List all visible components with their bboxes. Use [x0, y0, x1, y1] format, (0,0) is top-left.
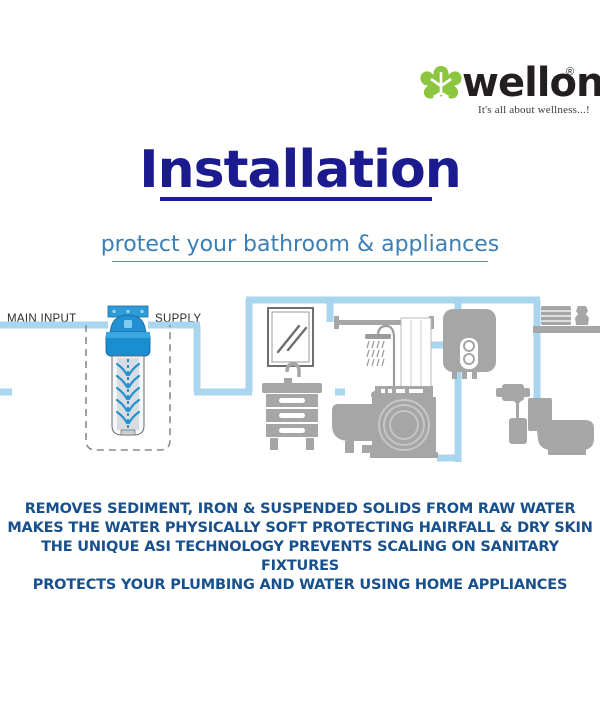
title-underline [160, 197, 432, 201]
water-spray-icon [367, 341, 384, 366]
page-title: Installation [0, 140, 600, 200]
water-heater [443, 309, 496, 379]
washing-machine [370, 386, 438, 458]
claim-line-4: PROTECTS YOUR PLUMBING AND WATER USING H… [0, 576, 600, 595]
water-filter-housing [106, 306, 150, 435]
claim-line-1: REMOVES SEDIMENT, IRON & SUSPENDED SOLID… [0, 500, 600, 519]
installation-diagram [0, 280, 600, 465]
brand-logo: wellon ® It's all about wellness...! [418, 62, 588, 124]
claim-line-3: THE UNIQUE ASI TECHNOLOGY PREVENTS SCALI… [0, 538, 600, 576]
green-clover-leaf-icon [418, 64, 464, 110]
page-subtitle: protect your bathroom & appliances [0, 232, 600, 257]
installation-poster: wellon ® It's all about wellness...! Ins… [0, 0, 600, 708]
claim-line-2: MAKES THE WATER PHYSICALLY SOFT PROTECTI… [0, 519, 600, 538]
benefit-claims: REMOVES SEDIMENT, IRON & SUSPENDED SOLID… [0, 500, 600, 595]
mirror [268, 308, 313, 366]
sink-vanity [262, 364, 322, 450]
toilet [528, 398, 594, 455]
toilet-brush [509, 397, 527, 445]
toilet-paper-roll [496, 384, 530, 401]
towel-shelf [533, 306, 600, 333]
brand-tagline: It's all about wellness...! [478, 104, 590, 116]
subtitle-underline [112, 261, 488, 262]
registered-trademark-icon: ® [566, 66, 574, 78]
brand-name: wellon [462, 62, 600, 104]
